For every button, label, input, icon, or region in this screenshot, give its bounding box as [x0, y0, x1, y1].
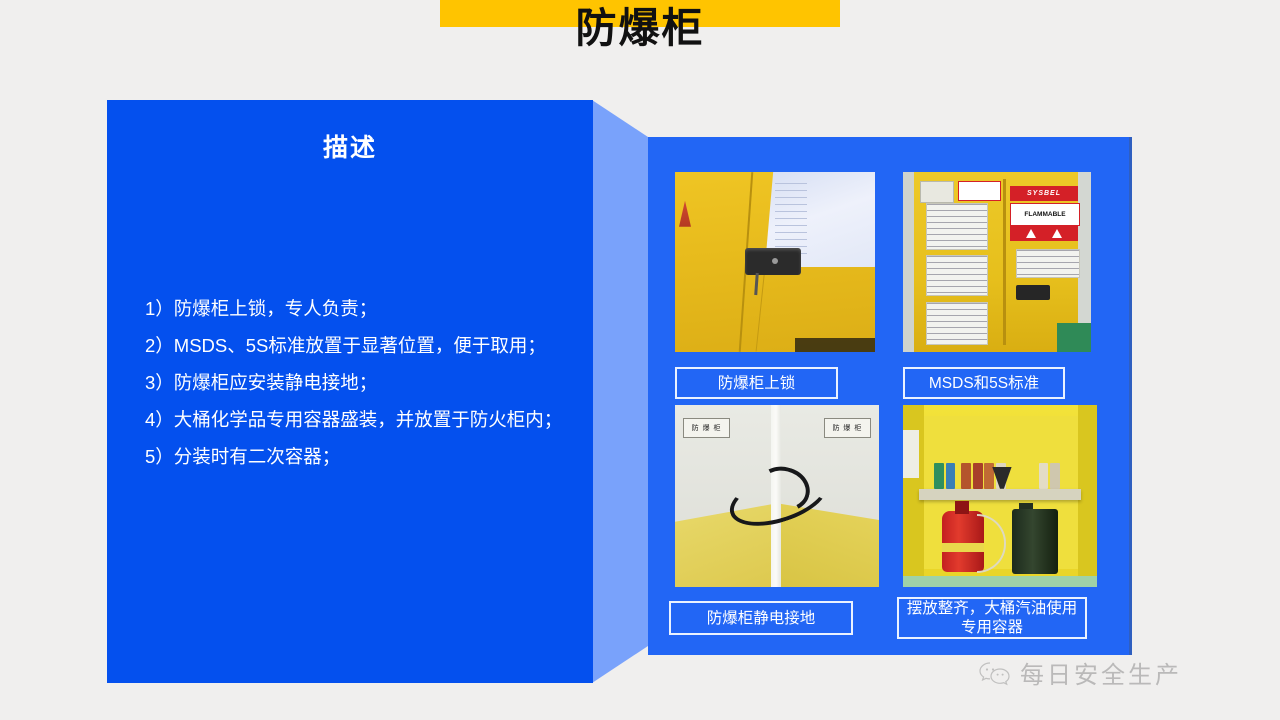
photo-caption-msds: MSDS和5S标准	[903, 367, 1065, 399]
photo-tidy-storage	[903, 405, 1097, 587]
photo-static-grounding: 防 爆 柜 防 爆 柜	[675, 405, 879, 587]
description-panel-face: 描述 1）防爆柜上锁，专人负责； 2）MSDS、5S标准放置于显著位置，便于取用…	[107, 100, 593, 683]
fire-extinguisher-valve	[955, 501, 969, 514]
flammable-label: FLAMMABLE	[1010, 203, 1080, 227]
jerry-can	[1012, 509, 1059, 575]
description-panel-3d-side	[592, 100, 648, 690]
posted-document	[1016, 249, 1080, 278]
photo-panel: 防爆柜上锁 SYSBEL FLAMMABLE MSDS和5S标准	[648, 137, 1132, 655]
cabinet-handle	[1016, 285, 1050, 299]
cabinet-tag-right: 防 爆 柜	[824, 418, 871, 438]
slide-root: 防爆柜 描述 1）防爆柜上锁，专人负责； 2）MSDS、5S标准放置于显著位置，…	[0, 0, 1280, 720]
description-panel: 描述 1）防爆柜上锁，专人负责； 2）MSDS、5S标准放置于显著位置，便于取用…	[107, 100, 652, 690]
warning-triangle-icon	[1026, 229, 1036, 238]
photo-explosion-proof-cabinet-lock	[675, 172, 875, 352]
list-item: 2）MSDS、5S标准放置于显著位置，便于取用；	[145, 327, 565, 364]
floor-shadow	[795, 338, 875, 352]
hazard-warning-band	[1010, 225, 1078, 241]
chemical-bottle	[934, 463, 944, 488]
wall-left	[903, 172, 914, 352]
chemical-bottle	[961, 463, 971, 488]
posted-document	[926, 302, 988, 345]
photo-sticker	[920, 181, 954, 203]
floor-strip	[903, 576, 1097, 587]
list-item: 4）大桶化学品专用容器盛装，并放置于防火柜内；	[145, 401, 565, 438]
photo-caption-storage: 摆放整齐，大桶汽油使用专用容器	[897, 597, 1087, 639]
list-item: 5）分装时有二次容器；	[145, 438, 565, 475]
posted-document	[926, 255, 988, 297]
chemical-bottle	[973, 463, 983, 488]
door-seam	[1003, 179, 1006, 345]
watermark-text: 每日安全生产	[1020, 655, 1182, 690]
photo-caption-lock: 防爆柜上锁	[675, 367, 838, 399]
list-item: 1）防爆柜上锁，专人负责；	[145, 290, 565, 327]
interior-label	[903, 430, 919, 477]
sysbel-brand-label: SYSBEL	[1010, 186, 1078, 200]
watermark: 每日安全生产	[978, 655, 1182, 690]
posted-document	[926, 203, 988, 250]
cabinet-lock	[745, 248, 801, 275]
chemical-bottle	[1039, 463, 1049, 488]
floor-strip	[1057, 323, 1091, 352]
cabinet-shelf	[919, 489, 1082, 500]
brand-sticker-small	[958, 181, 1001, 201]
description-heading: 描述	[107, 128, 593, 164]
wechat-icon	[978, 660, 1012, 686]
photo-msds-5s-standard: SYSBEL FLAMMABLE	[903, 172, 1091, 352]
page-title: 防爆柜	[440, 2, 840, 54]
chemical-bottle	[1050, 463, 1060, 488]
warning-triangle-icon	[1052, 229, 1062, 238]
photo-caption-grounding: 防爆柜静电接地	[669, 601, 853, 635]
description-list: 1）防爆柜上锁，专人负责； 2）MSDS、5S标准放置于显著位置，便于取用； 3…	[145, 290, 565, 475]
list-item: 3）防爆柜应安装静电接地；	[145, 364, 565, 401]
cabinet-tag-left: 防 爆 柜	[683, 418, 730, 438]
chemical-bottle	[946, 463, 956, 488]
photo-caption-storage-text: 摆放整齐，大桶汽油使用专用容器	[905, 599, 1079, 637]
